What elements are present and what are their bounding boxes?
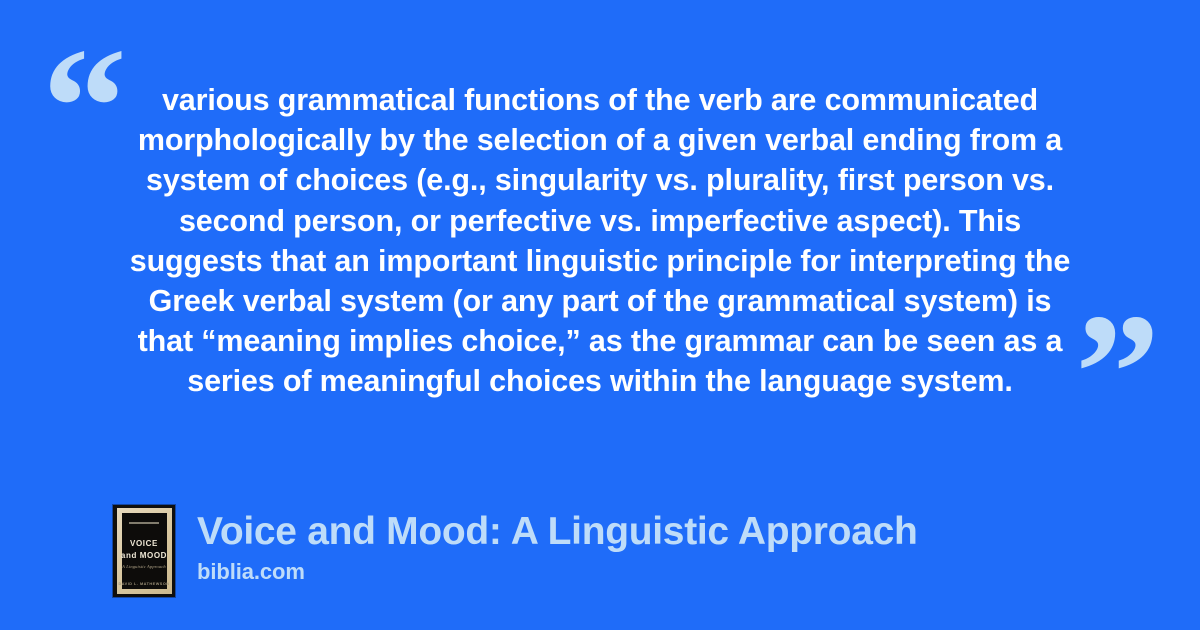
quote-text: various grammatical functions of the ver…	[100, 80, 1100, 402]
quote-card: “ various grammatical functions of the v…	[0, 0, 1200, 630]
book-cover-thumbnail: VOICE and MOOD A Linguistic Approach DAV…	[113, 505, 175, 597]
attribution-text: Voice and Mood: A Linguistic Approach bi…	[197, 505, 918, 585]
quote-block: various grammatical functions of the ver…	[100, 80, 1100, 402]
book-cover-title-line-2: and MOOD	[113, 551, 175, 560]
book-title: Voice and Mood: A Linguistic Approach	[197, 509, 918, 555]
book-cover-rule	[129, 522, 159, 524]
closing-quotation-mark-icon: ”	[1075, 288, 1158, 458]
book-cover-title-line-1: VOICE	[113, 539, 175, 548]
site-url: biblia.com	[197, 559, 918, 585]
book-cover-author: DAVID L. MATHEWSON	[113, 582, 175, 586]
attribution-footer: VOICE and MOOD A Linguistic Approach DAV…	[113, 505, 918, 597]
book-cover-subtitle: A Linguistic Approach	[113, 564, 175, 569]
